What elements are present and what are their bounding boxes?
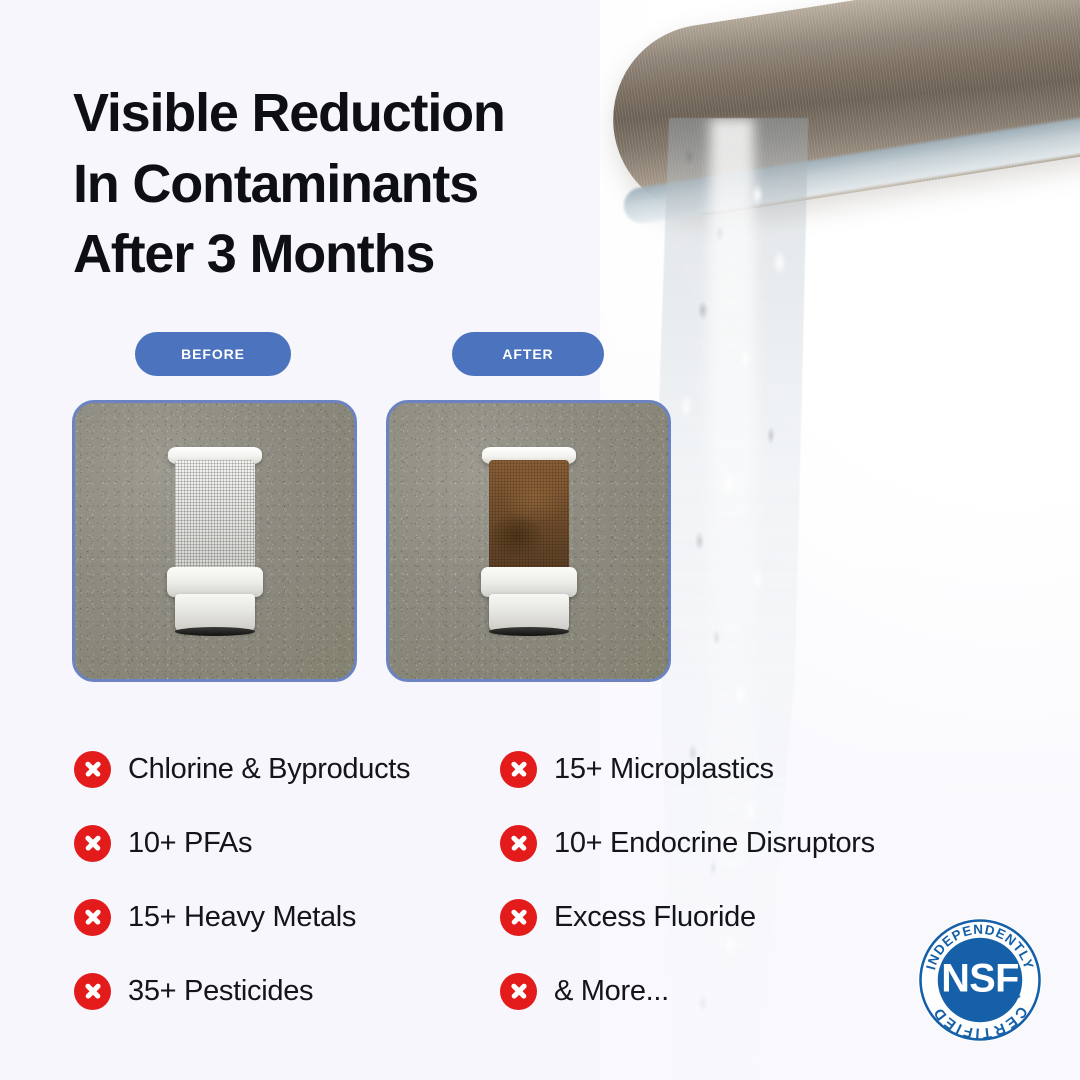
list-item-label: 15+ Microplastics — [554, 753, 774, 786]
nsf-center-text: NSF — [941, 957, 1018, 1001]
cartridge-collar — [167, 567, 263, 597]
x-circle-icon — [74, 825, 111, 862]
list-item: 10+ Endocrine Disruptors — [500, 806, 940, 880]
contaminant-list-left: Chlorine & Byproducts 10+ PFAs 15+ Heavy… — [74, 732, 494, 1028]
cartridge-mesh — [175, 460, 255, 572]
list-item-label: & More... — [554, 975, 669, 1008]
badge-before: BEFORE — [135, 332, 291, 376]
badge-after: AFTER — [452, 332, 604, 376]
x-circle-icon — [74, 751, 111, 788]
list-item: 15+ Microplastics — [500, 732, 940, 806]
cartridge-oring — [175, 627, 255, 636]
list-item-label: Chlorine & Byproducts — [128, 753, 410, 786]
nsf-certified-badge: INDEPENDENTLY CERTIFIED NSF ™ — [916, 916, 1044, 1044]
x-circle-icon — [500, 825, 537, 862]
list-item-label: 15+ Heavy Metals — [128, 901, 356, 934]
cartridge-collar — [481, 567, 577, 597]
x-circle-icon — [500, 973, 537, 1010]
list-item: Excess Fluoride — [500, 880, 940, 954]
x-circle-icon — [74, 899, 111, 936]
photo-before — [72, 400, 357, 682]
cartridge-oring — [489, 627, 569, 636]
page-title: Visible Reduction In Contaminants After … — [73, 78, 673, 290]
contaminant-list-right: 15+ Microplastics 10+ Endocrine Disrupto… — [500, 732, 940, 1028]
filter-cartridge-clean — [172, 447, 258, 637]
poster-canvas: Visible Reduction In Contaminants After … — [0, 0, 1080, 1080]
x-circle-icon — [500, 751, 537, 788]
list-item: 10+ PFAs — [74, 806, 494, 880]
list-item-label: 10+ PFAs — [128, 827, 252, 860]
nsf-trademark-text: ™ — [1013, 993, 1021, 1003]
list-item: 15+ Heavy Metals — [74, 880, 494, 954]
list-item-label: Excess Fluoride — [554, 901, 756, 934]
filter-cartridge-dirty — [486, 447, 572, 637]
headline-line-3: After 3 Months — [73, 219, 673, 290]
list-item-label: 35+ Pesticides — [128, 975, 313, 1008]
headline-line-1: Visible Reduction — [73, 78, 673, 149]
x-circle-icon — [74, 973, 111, 1010]
list-item: Chlorine & Byproducts — [74, 732, 494, 806]
headline-line-2: In Contaminants — [73, 149, 673, 220]
cartridge-mesh — [489, 460, 569, 572]
list-item: & More... — [500, 954, 940, 1028]
x-circle-icon — [500, 899, 537, 936]
list-item-label: 10+ Endocrine Disruptors — [554, 827, 875, 860]
list-item: 35+ Pesticides — [74, 954, 494, 1028]
photo-after — [386, 400, 671, 682]
